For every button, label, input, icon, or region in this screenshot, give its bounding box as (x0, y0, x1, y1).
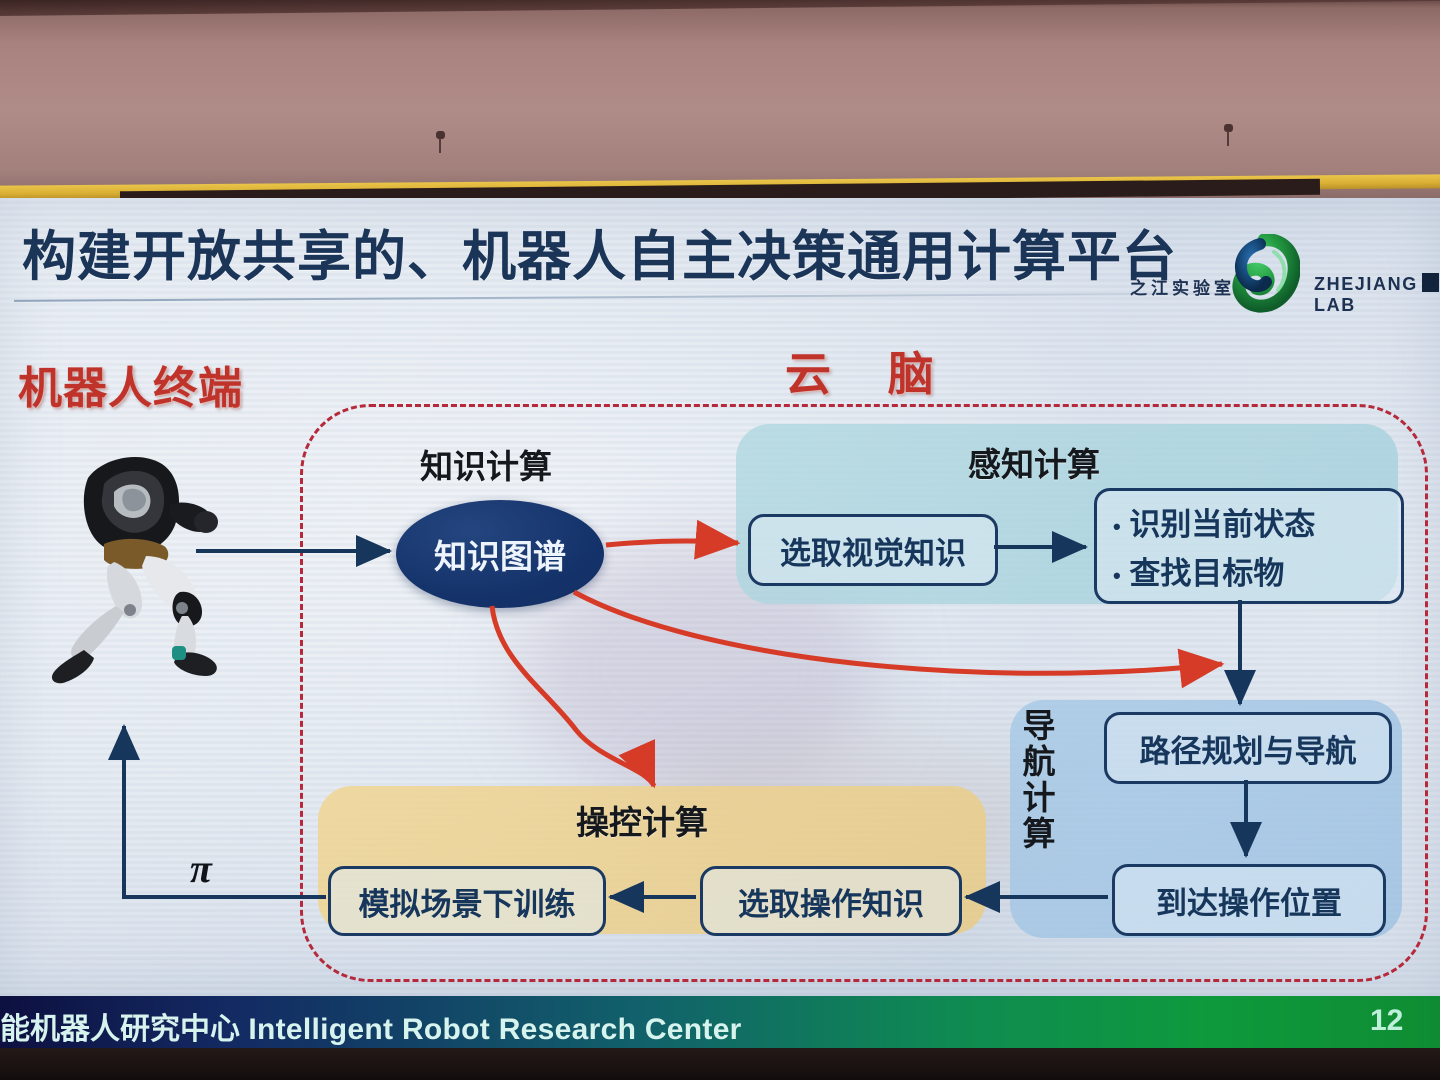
slide-photo-stage: 构建开放共享的、机器人自主决策通用计算平台 之江实验室 ZHEJIANG LAB… (0, 0, 1440, 1080)
room-floor-shadow (0, 1048, 1440, 1080)
section-heading-navigation: 导航计算 (1020, 708, 1053, 852)
bullet-recognize-state: • 识别当前状态 (1113, 499, 1315, 544)
brand-logo: 之江实验室 ZHEJIANG LAB (1130, 252, 1435, 318)
box-select-visual-knowledge[interactable]: 选取视觉知识 (748, 514, 998, 586)
section-heading-perception: 感知计算 (968, 438, 1100, 486)
brand-name-cn: 之江实验室 (1130, 274, 1235, 299)
section-heading-knowledge: 知识计算 (420, 440, 552, 488)
node-knowledge-graph[interactable]: 知识图谱 (396, 500, 604, 608)
bullet-find-target: • 查找目标物 (1113, 548, 1284, 593)
section-heading-control: 操控计算 (576, 796, 708, 844)
sprinkler-icon (1224, 124, 1233, 146)
box-train-in-simulation[interactable]: 模拟场景下训练 (328, 866, 606, 936)
box-perception-bullets[interactable]: • 识别当前状态 • 查找目标物 (1094, 488, 1404, 604)
box-path-planning-navigation[interactable]: 路径规划与导航 (1104, 712, 1392, 784)
page-title: 构建开放共享的、机器人自主决策通用计算平台 (22, 212, 1182, 282)
humanoid-robot-running-icon (30, 440, 240, 685)
box-select-operation-knowledge[interactable]: 选取操作知识 (700, 866, 962, 936)
section-heading-robot-terminal: 机器人终端 (18, 352, 243, 416)
policy-pi-symbol: π (190, 845, 212, 892)
footer-text-en: Intelligent Robot Research Center (248, 1013, 741, 1046)
brand-square-mark (1422, 273, 1439, 292)
ceiling (0, 0, 1440, 200)
sprinkler-icon (436, 131, 445, 153)
page-number: 12 (1370, 1004, 1403, 1038)
footer-text-cn: 能机器人研究中心 (0, 1013, 248, 1046)
box-arrive-operation-position[interactable]: 到达操作位置 (1112, 864, 1386, 936)
brand-name-en: ZHEJIANG LAB (1314, 274, 1435, 316)
section-heading-cloud-brain: 云 脑 (785, 338, 956, 404)
zhejiang-lab-knot-logo-icon (1230, 234, 1300, 314)
footer-text: 能机器人研究中心 Intelligent Robot Research Cent… (0, 1004, 742, 1048)
